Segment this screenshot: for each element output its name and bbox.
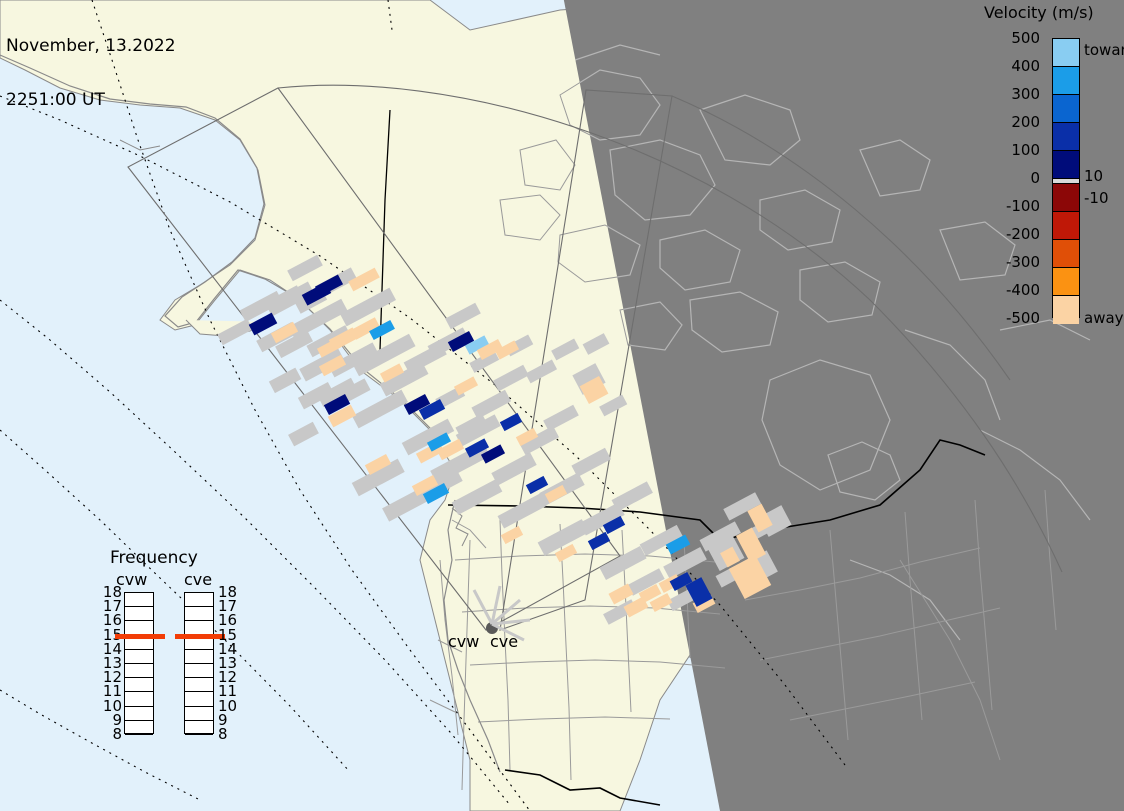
frequency-cell	[185, 607, 213, 621]
frequency-column-label-cve: cve	[184, 570, 212, 589]
frequency-cell	[125, 721, 153, 735]
velocity-label-plus10: 10	[1084, 167, 1103, 185]
velocity-colorbar-legend: Velocity (m/s) 5004003002001000-100-200-…	[978, 0, 1124, 330]
velocity-tick-300: 300	[1011, 85, 1040, 103]
timestamp-header: November, 13.2022 2251:00 UT	[6, 1, 176, 145]
site-label-cvw: cvw	[448, 632, 479, 651]
velocity-tick--400: -400	[1006, 281, 1040, 299]
frequency-cell	[125, 692, 153, 706]
velocity-tick--200: -200	[1006, 225, 1040, 243]
velocity-legend-title: Velocity (m/s)	[984, 3, 1094, 22]
header-date: November, 13.2022	[6, 37, 176, 55]
header-time: 2251:00 UT	[6, 91, 176, 109]
velocity-band-toward-3	[1053, 123, 1079, 151]
frequency-legend-title: Frequency	[110, 548, 198, 568]
velocity-tick--300: -300	[1006, 253, 1040, 271]
velocity-band-away-4	[1053, 296, 1079, 324]
velocity-tick-100: 100	[1011, 141, 1040, 159]
frequency-cell	[125, 664, 153, 678]
velocity-band-away-3	[1053, 268, 1079, 296]
frequency-ticks-left: 18171615141312111098	[96, 592, 122, 734]
velocity-colorbar	[1052, 38, 1080, 318]
velocity-tick-400: 400	[1011, 57, 1040, 75]
frequency-cell	[185, 650, 213, 664]
frequency-cell	[185, 721, 213, 735]
velocity-band-away-0	[1053, 184, 1079, 212]
velocity-label-away: away	[1084, 309, 1124, 327]
velocity-side-labels: toward10-10away	[1084, 30, 1124, 326]
velocity-label-minus10: -10	[1084, 189, 1109, 207]
site-label-cve: cve	[490, 632, 518, 651]
frequency-cell	[185, 692, 213, 706]
velocity-tick-labels: 5004003002001000-100-200-300-400-500	[978, 30, 1046, 326]
velocity-label-toward: toward	[1084, 41, 1124, 59]
frequency-tick-8: 8	[112, 725, 122, 743]
velocity-band-toward-0	[1053, 39, 1079, 67]
velocity-tick--100: -100	[1006, 197, 1040, 215]
velocity-band-toward-4	[1053, 151, 1079, 179]
frequency-cell	[125, 707, 153, 721]
radar-map-canvas: November, 13.2022 2251:00 UT cvw cve Vel…	[0, 0, 1124, 811]
velocity-band-toward-2	[1053, 95, 1079, 123]
frequency-cell	[125, 607, 153, 621]
frequency-cell	[185, 664, 213, 678]
frequency-cell	[185, 678, 213, 692]
velocity-band-toward-1	[1053, 67, 1079, 95]
frequency-cell	[125, 650, 153, 664]
frequency-cell	[185, 593, 213, 607]
velocity-tick--500: -500	[1006, 309, 1040, 327]
velocity-tick-200: 200	[1011, 113, 1040, 131]
frequency-cell	[185, 707, 213, 721]
velocity-band-away-2	[1053, 240, 1079, 268]
frequency-legend: Frequency cvw cve 18171615141312111098 1…	[96, 548, 236, 788]
velocity-tick-500: 500	[1011, 29, 1040, 47]
frequency-tick-8: 8	[218, 725, 228, 743]
frequency-marker-cvw	[115, 634, 165, 639]
frequency-ticks-right: 18171615141312111098	[218, 592, 244, 734]
frequency-bar-cve[interactable]	[184, 592, 214, 734]
frequency-cell	[125, 678, 153, 692]
velocity-tick-0: 0	[1030, 169, 1040, 187]
velocity-band-away-1	[1053, 212, 1079, 240]
frequency-cell	[125, 593, 153, 607]
frequency-bar-cvw[interactable]	[124, 592, 154, 734]
